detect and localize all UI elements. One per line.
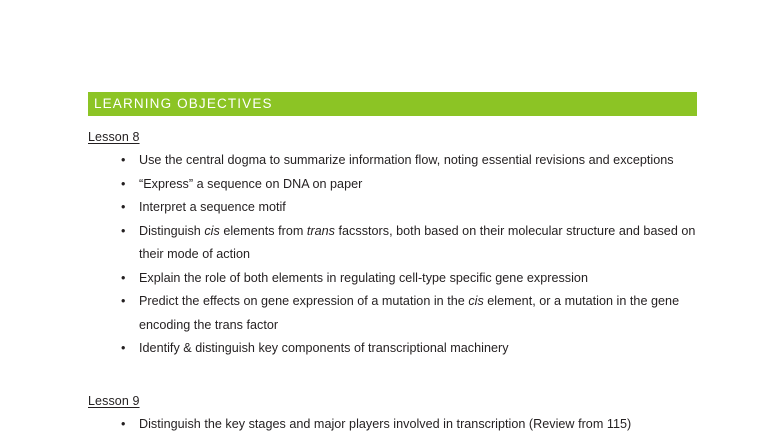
objective-list-item: •Predict the effects on gene expression …	[88, 290, 698, 337]
text-run: Distinguish the key stages and major pla…	[139, 417, 631, 431]
bullet-icon: •	[121, 173, 125, 197]
bullet-icon: •	[121, 290, 125, 314]
italic-term: cis	[204, 224, 219, 238]
objective-list-item: •Distinguish cis elements from trans fac…	[88, 220, 698, 267]
bullet-icon: •	[121, 196, 125, 220]
bullet-icon: •	[121, 220, 125, 244]
lesson-heading: Lesson 9	[88, 394, 698, 408]
document-body: LEARNING OBJECTIVES Lesson 8•Use the cen…	[88, 92, 698, 436]
text-run: Explain the role of both elements in reg…	[139, 271, 588, 285]
bullet-icon: •	[121, 149, 125, 173]
objectives-list: •Use the central dogma to summarize info…	[88, 149, 698, 361]
document-page: LEARNING OBJECTIVES Lesson 8•Use the cen…	[0, 0, 784, 441]
objective-text: Explain the role of both elements in reg…	[139, 267, 698, 291]
section-header-bar: LEARNING OBJECTIVES	[88, 92, 697, 116]
objective-list-item: •Explain the role of both elements in re…	[88, 267, 698, 291]
italic-term: trans	[307, 224, 335, 238]
objective-text: Use the central dogma to summarize infor…	[139, 149, 698, 173]
text-run: Identify & distinguish key components of…	[139, 341, 509, 355]
objective-text: Distinguish cis elements from trans facs…	[139, 220, 698, 267]
objective-list-item: •“Express” a sequence on DNA on paper	[88, 173, 698, 197]
italic-term: cis	[468, 294, 483, 308]
objective-list-item: •Use the central dogma to summarize info…	[88, 149, 698, 173]
lesson-heading: Lesson 8	[88, 130, 698, 144]
objective-text: Distinguish the key stages and major pla…	[139, 413, 698, 437]
text-run: Distinguish	[139, 224, 204, 238]
bullet-icon: •	[121, 267, 125, 291]
text-run: elements from	[220, 224, 307, 238]
objective-text: “Express” a sequence on DNA on paper	[139, 173, 698, 197]
lessons-container: Lesson 8•Use the central dogma to summar…	[88, 130, 698, 436]
text-run: “Express” a sequence on DNA on paper	[139, 177, 362, 191]
objective-text: Identify & distinguish key components of…	[139, 337, 698, 361]
objective-text: Predict the effects on gene expression o…	[139, 290, 698, 337]
objectives-list: •Distinguish the key stages and major pl…	[88, 413, 698, 437]
objective-list-item: •Distinguish the key stages and major pl…	[88, 413, 698, 437]
bullet-icon: •	[121, 337, 125, 361]
objective-list-item: •Interpret a sequence motif	[88, 196, 698, 220]
text-run: Predict the effects on gene expression o…	[139, 294, 468, 308]
bullet-icon: •	[121, 413, 125, 437]
objective-text: Interpret a sequence motif	[139, 196, 698, 220]
text-run: Use the central dogma to summarize infor…	[139, 153, 674, 167]
objective-list-item: •Identify & distinguish key components o…	[88, 337, 698, 361]
section-header-title: LEARNING OBJECTIVES	[94, 92, 273, 116]
text-run: Interpret a sequence motif	[139, 200, 286, 214]
